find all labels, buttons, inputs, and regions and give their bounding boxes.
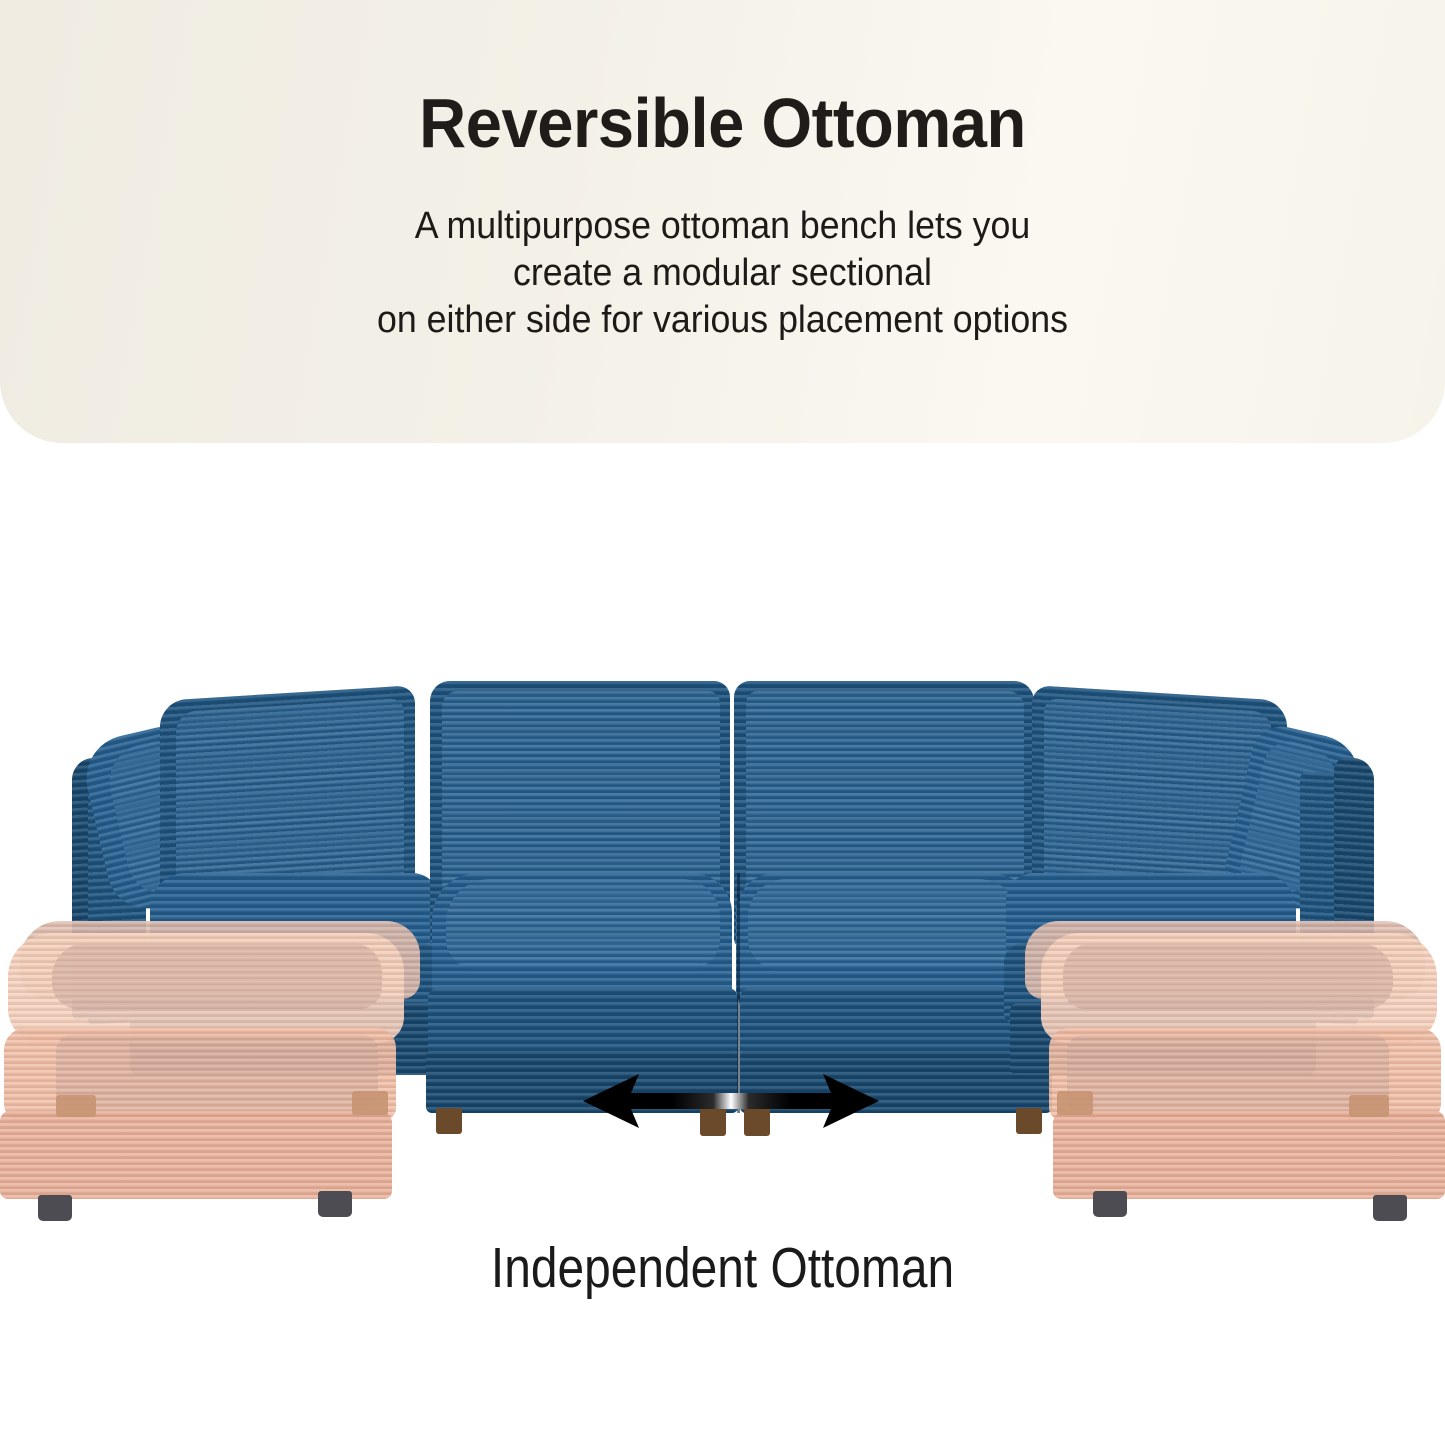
right-ottoman-base bbox=[1053, 1111, 1445, 1199]
subtitle-line-2: create a modular sectional bbox=[43, 250, 1401, 297]
left-ottoman-base-wood-trim bbox=[56, 1095, 96, 1117]
left-ottoman-blend-mid bbox=[52, 943, 382, 1009]
left-ottoman-foot-left bbox=[38, 1195, 72, 1221]
center-left-base-upper bbox=[428, 988, 738, 1060]
page-title: Reversible Ottoman bbox=[51, 84, 1395, 162]
left-ottoman-base bbox=[0, 1111, 392, 1199]
header-card: Reversible Ottoman A multipurpose ottoma… bbox=[0, 0, 1445, 443]
page-subtitle: A multipurpose ottoman bench lets you cr… bbox=[43, 203, 1401, 344]
right-ottoman-base-wood-trim bbox=[1057, 1091, 1093, 1115]
product-caption: Independent Ottoman bbox=[116, 1233, 1330, 1303]
right-ottoman-base-wood-trim-right bbox=[1349, 1095, 1389, 1117]
center-foot-right bbox=[1016, 1108, 1042, 1134]
left-ottoman-blend-lower bbox=[56, 1035, 378, 1113]
left-ottoman-foot-right bbox=[318, 1191, 352, 1217]
right-ottoman-foot-right bbox=[1373, 1195, 1407, 1221]
right-ottoman-blend-lower bbox=[1067, 1035, 1389, 1113]
seat-cushion-3-top bbox=[748, 879, 1022, 969]
left-ottoman-base-wood-trim-right bbox=[352, 1091, 388, 1115]
center-foot-left bbox=[436, 1108, 462, 1134]
subtitle-line-1: A multipurpose ottoman bench lets you bbox=[43, 203, 1401, 250]
subtitle-line-3: on either side for various placement opt… bbox=[43, 297, 1401, 344]
right-ottoman-blend-mid bbox=[1063, 943, 1393, 1009]
double-headed-arrow-icon bbox=[583, 1068, 879, 1134]
right-ottoman-foot-left bbox=[1093, 1191, 1127, 1217]
seat-cushion-2-top bbox=[446, 879, 720, 969]
